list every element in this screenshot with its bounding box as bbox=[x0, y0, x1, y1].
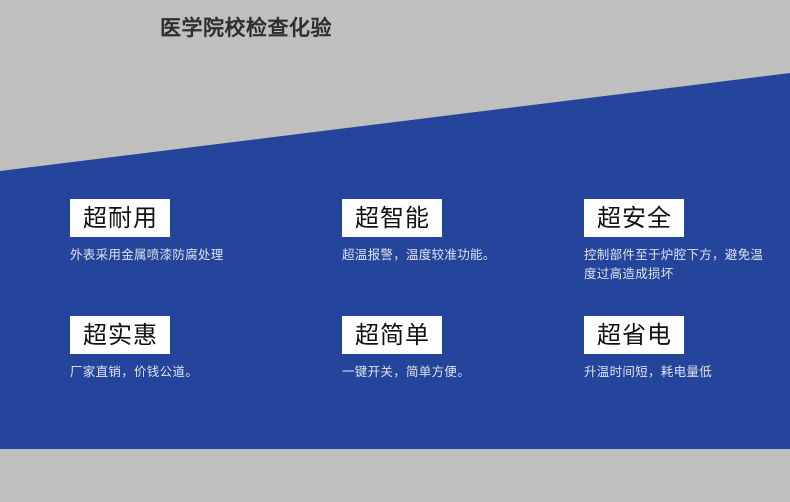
feature-title-1: 超耐用 bbox=[70, 199, 170, 237]
feature-description-4: 厂家直销，价钱公道。 bbox=[70, 362, 260, 381]
feature-card-4: 超实惠 厂家直销，价钱公道。 bbox=[70, 316, 285, 381]
feature-card-5: 超简单 一键开关，简单方便。 bbox=[342, 316, 557, 381]
feature-description-6: 升温时间短，耗电量低 bbox=[584, 362, 774, 381]
feature-title-3: 超安全 bbox=[584, 199, 684, 237]
feature-card-1: 超耐用 外表采用金属喷漆防腐处理 bbox=[70, 199, 285, 264]
feature-description-5: 一键开关，简单方便。 bbox=[342, 362, 532, 381]
feature-title-4: 超实惠 bbox=[70, 316, 170, 354]
feature-description-3: 控制部件至于炉腔下方，避免温度过高造成损坏 bbox=[584, 245, 774, 283]
feature-description-2: 超温报警，温度较准功能。 bbox=[342, 245, 512, 264]
feature-description-1: 外表采用金属喷漆防腐处理 bbox=[70, 245, 240, 264]
feature-title-5: 超简单 bbox=[342, 316, 442, 354]
feature-grid: 超耐用 外表采用金属喷漆防腐处理 超智能 超温报警，温度较准功能。 超安全 控制… bbox=[0, 0, 790, 502]
feature-card-2: 超智能 超温报警，温度较准功能。 bbox=[342, 199, 557, 264]
product-feature-banner: 医学院校检查化验 超耐用 外表采用金属喷漆防腐处理 超智能 超温报警，温度较准功… bbox=[0, 0, 790, 502]
feature-card-6: 超省电 升温时间短，耗电量低 bbox=[584, 316, 790, 381]
feature-title-6: 超省电 bbox=[584, 316, 684, 354]
feature-title-2: 超智能 bbox=[342, 199, 442, 237]
feature-card-3: 超安全 控制部件至于炉腔下方，避免温度过高造成损坏 bbox=[584, 199, 790, 283]
